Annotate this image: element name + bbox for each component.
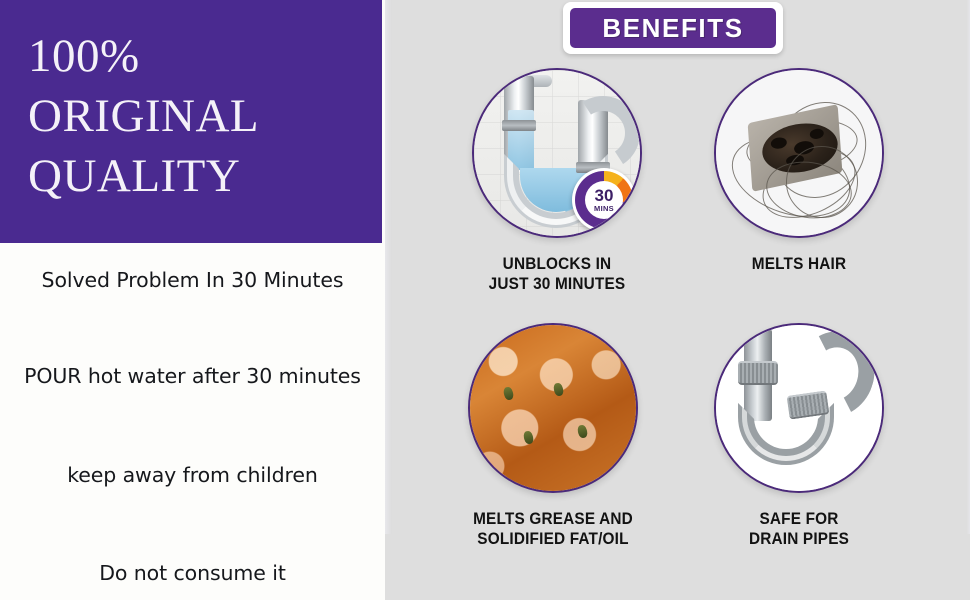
- badge-unit: MINS: [594, 205, 614, 213]
- usage-note-1: Solved Problem In 30 Minutes: [0, 268, 385, 292]
- thirty-minutes-badge: 30 MINS: [572, 168, 636, 232]
- benefit-caption: MELTS GREASE AND SOLIDIFIED FAT/OIL: [417, 509, 689, 549]
- grease-debris: [553, 382, 565, 397]
- benefit-item-safe-for-pipes: SAFE FOR DRAIN PIPES: [653, 323, 945, 549]
- benefit-caption-line-2: SOLIDIFIED FAT/OIL: [417, 529, 689, 549]
- benefit-caption-line-1: MELTS HAIR: [663, 254, 935, 274]
- clog-spot: [770, 136, 788, 150]
- infographic-canvas: 100% ORIGINAL QUALITY Solved Problem In …: [0, 0, 970, 600]
- benefit-item-melts-hair: MELTS HAIR: [653, 68, 945, 274]
- usage-note-2: POUR hot water after 30 minutes: [0, 364, 385, 388]
- pipe-collar-upper: [502, 120, 536, 131]
- usage-note-3: keep away from children: [0, 463, 385, 487]
- benefits-grid: 30 MINS UNBLOCKS IN JUST 30 MINUTES: [385, 68, 970, 588]
- pipe-scene-white-background: [716, 325, 882, 491]
- benefit-caption-line-1: MELTS GREASE AND: [417, 509, 689, 529]
- benefits-panel: BENEFITS: [385, 0, 970, 600]
- grease-fat-icon: [468, 323, 638, 493]
- brand-line-1: 100%: [28, 26, 372, 86]
- benefit-caption-line-1: SAFE FOR: [663, 509, 935, 529]
- hair-clog-icon: [714, 68, 884, 238]
- p-trap-pipe-icon: [714, 323, 884, 493]
- benefits-banner-label: BENEFITS: [602, 13, 743, 44]
- grease-debris: [503, 386, 515, 401]
- drain-pipe-water-icon: 30 MINS: [472, 68, 642, 238]
- usage-note-4: Do not consume it: [0, 561, 385, 585]
- grease-texture: [470, 325, 636, 491]
- grease-debris: [577, 424, 589, 439]
- ptrap-slip-nut-upper: [738, 361, 778, 385]
- brand-block: 100% ORIGINAL QUALITY: [0, 0, 382, 243]
- benefit-caption: MELTS HAIR: [663, 254, 935, 274]
- benefits-banner: BENEFITS: [563, 2, 783, 54]
- grease-debris: [523, 430, 535, 445]
- brand-line-3: QUALITY: [28, 146, 372, 206]
- brand-line-2: ORIGINAL: [28, 86, 372, 146]
- hair-scene-background: [716, 70, 882, 236]
- badge-number: 30: [595, 187, 614, 204]
- badge-core: 30 MINS: [585, 181, 623, 219]
- benefit-caption: SAFE FOR DRAIN PIPES: [663, 509, 935, 549]
- brand-headline: 100% ORIGINAL QUALITY: [28, 26, 372, 206]
- benefits-banner-plate: BENEFITS: [570, 8, 776, 48]
- left-panel: 100% ORIGINAL QUALITY Solved Problem In …: [0, 0, 385, 600]
- clog-spot: [809, 128, 825, 140]
- badge-progress-ring: 30 MINS: [575, 171, 633, 229]
- benefit-caption-line-2: JUST 30 MINUTES: [421, 274, 693, 294]
- benefit-caption-line-2: DRAIN PIPES: [663, 529, 935, 549]
